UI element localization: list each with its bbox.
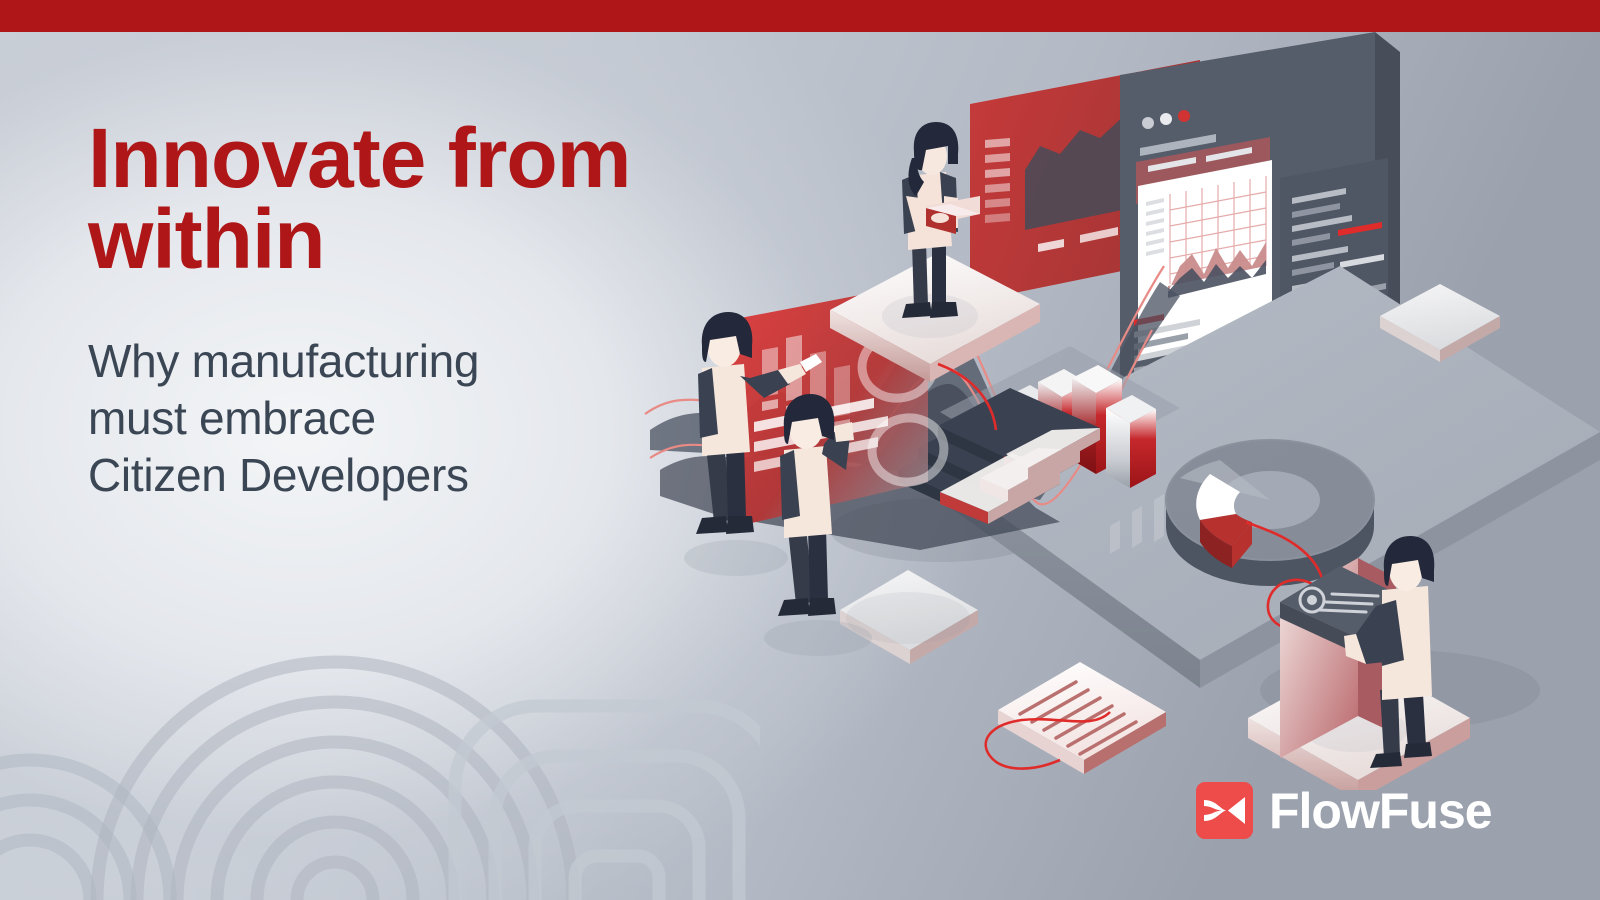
donut-chart-3d xyxy=(1166,440,1374,586)
copy-block: Innovate from within Why manufacturing m… xyxy=(88,118,788,504)
banner-stage: Innovate from within Why manufacturing m… xyxy=(0,0,1600,900)
document-sheet xyxy=(998,662,1166,774)
tile-bottom-left xyxy=(840,570,978,664)
page-title: Innovate from within xyxy=(88,118,788,281)
top-accent-bar xyxy=(0,0,1600,32)
page-subtitle: Why manufacturing must embrace Citizen D… xyxy=(88,333,788,504)
flowfuse-logo-text: FlowFuse xyxy=(1269,786,1492,836)
flowfuse-logo-mark-icon xyxy=(1196,782,1253,839)
flowfuse-logo[interactable]: FlowFuse xyxy=(1196,782,1492,839)
